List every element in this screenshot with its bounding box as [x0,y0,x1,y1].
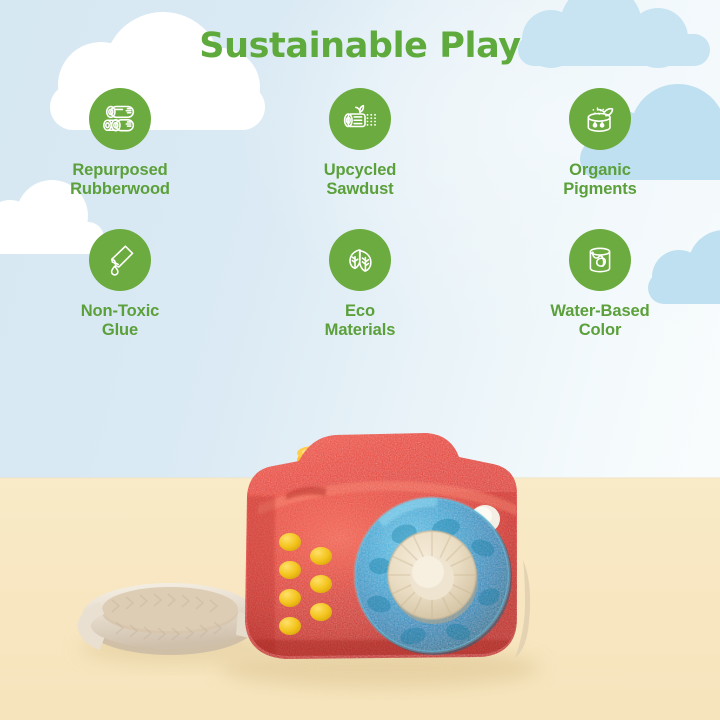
wooden-toy-camera [0,0,720,720]
poster-canvas: Sustainable Play [0,0,720,720]
